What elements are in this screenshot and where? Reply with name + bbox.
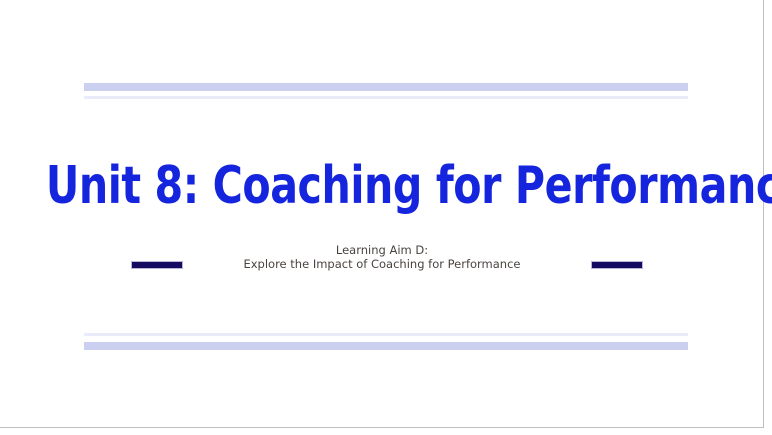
top-thin-divider (84, 96, 688, 99)
accent-dash-right-icon (591, 261, 643, 269)
title-block: Unit 8: Coaching for Performance (0, 160, 764, 212)
slide-canvas: Unit 8: Coaching for Performance Learnin… (0, 0, 764, 428)
slide-subtitle: Learning Aim D: Explore the Impact of Co… (0, 243, 764, 271)
subtitle-row: Learning Aim D: Explore the Impact of Co… (0, 243, 764, 277)
subtitle-line-2: Explore the Impact of Coaching for Perfo… (0, 257, 764, 271)
subtitle-line-1: Learning Aim D: (0, 243, 764, 257)
bottom-thick-divider (84, 342, 688, 350)
slide-title: Unit 8: Coaching for Performance (46, 160, 718, 212)
top-thick-divider (84, 83, 688, 91)
bottom-thin-divider (84, 333, 688, 336)
